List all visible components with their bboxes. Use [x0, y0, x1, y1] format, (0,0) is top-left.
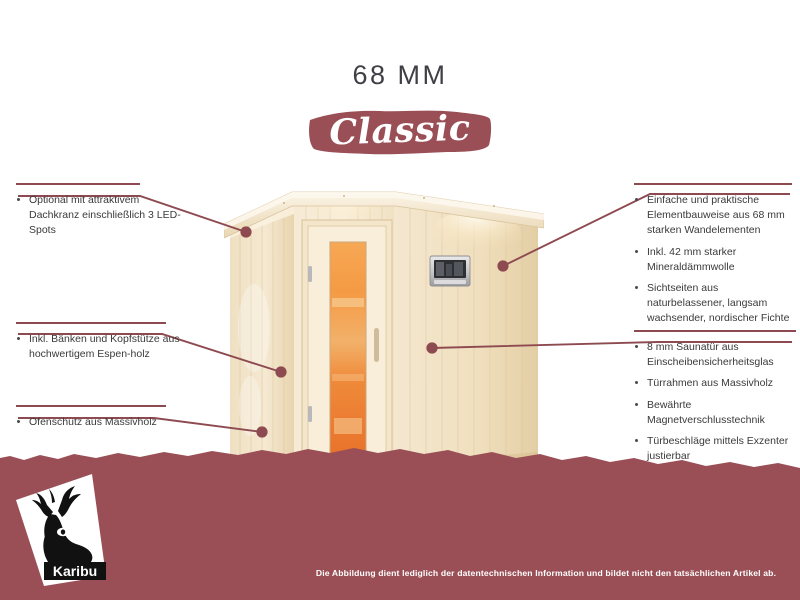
list-item: Türrahmen aus Massivholz — [634, 376, 796, 391]
list-item-label: Einfache und praktische Elementbauweise … — [647, 194, 785, 236]
list-item: Inkl. 42 mm starker Mineraldämmwolle — [634, 245, 792, 275]
control-unit — [430, 256, 470, 286]
annotation-construction: Einfache und praktische Elementbauweise … — [634, 183, 792, 327]
list-item-label: Türrahmen aus Massivholz — [647, 377, 773, 389]
list-item: 8 mm Saunatür aus Einscheibensicherheits… — [634, 340, 796, 370]
annotation-rule — [634, 330, 796, 332]
door-hinge-lower — [308, 406, 312, 422]
bullet-icon — [635, 198, 638, 201]
bullet-icon — [635, 381, 638, 384]
list-item-label: 8 mm Saunatür aus Einscheibensicherheits… — [647, 341, 774, 368]
bullet-icon — [17, 337, 20, 340]
bullet-icon — [635, 250, 638, 253]
list-item: Inkl. Bänken und Kopfstütze aus hochwert… — [16, 332, 191, 362]
annotation-list: Ofenschutz aus Massivholz — [16, 415, 191, 430]
bullet-icon — [17, 420, 20, 423]
karibu-logo: Karibu — [14, 472, 118, 588]
bullet-icon — [635, 345, 638, 348]
list-item: Einfache und praktische Elementbauweise … — [634, 193, 792, 239]
door-handle — [374, 328, 379, 362]
bullet-icon — [635, 286, 638, 289]
bullet-icon — [635, 403, 638, 406]
title-area: 68 MM Classic — [0, 62, 800, 163]
model-name-text: Classic — [306, 103, 494, 161]
model-name-banner: Classic — [307, 106, 493, 158]
list-item: Bewährte Magnetverschlusstechnik — [634, 398, 796, 428]
bullet-icon — [17, 198, 20, 201]
door-hinge-upper — [308, 266, 312, 282]
deer-pupil — [61, 529, 65, 534]
annotation-rule — [16, 183, 140, 185]
list-item: Ofenschutz aus Massivholz — [16, 415, 191, 430]
annotation-roof-crown: Optional mit attraktivem Dachkranz einsc… — [16, 183, 191, 239]
list-item: Optional mit attraktivem Dachkranz einsc… — [16, 193, 191, 239]
list-item-label: Optional mit attraktivem Dachkranz einsc… — [29, 194, 181, 236]
annotation-rule — [16, 322, 166, 324]
annotation-list: Inkl. Bänken und Kopfstütze aus hochwert… — [16, 332, 191, 362]
list-item-label: Inkl. 42 mm starker Mineraldämmwolle — [647, 246, 736, 273]
list-item-label: Sichtseiten aus naturbelassener, langsam… — [647, 282, 789, 324]
annotation-rule — [16, 405, 166, 407]
annotation-list: Einfache und praktische Elementbauweise … — [634, 193, 792, 327]
logo-brand-text: Karibu — [53, 563, 97, 579]
footer-disclaimer: Die Abbildung dient lediglich der datent… — [300, 568, 792, 578]
annotation-heater-guard: Ofenschutz aus Massivholz — [16, 405, 191, 430]
annotation-benches: Inkl. Bänken und Kopfstütze aus hochwert… — [16, 322, 191, 362]
list-item: Sichtseiten aus naturbelassener, langsam… — [634, 281, 792, 327]
list-item-label: Ofenschutz aus Massivholz — [29, 416, 157, 428]
list-item-label: Inkl. Bänken und Kopfstütze aus hochwert… — [29, 333, 180, 360]
annotation-rule — [634, 183, 792, 185]
annotation-list: Optional mit attraktivem Dachkranz einsc… — [16, 193, 191, 239]
list-item-label: Bewährte Magnetverschlusstechnik — [647, 399, 765, 426]
page-title: 68 MM — [0, 62, 800, 89]
product-info-sheet: 68 MM Classic — [0, 0, 800, 600]
